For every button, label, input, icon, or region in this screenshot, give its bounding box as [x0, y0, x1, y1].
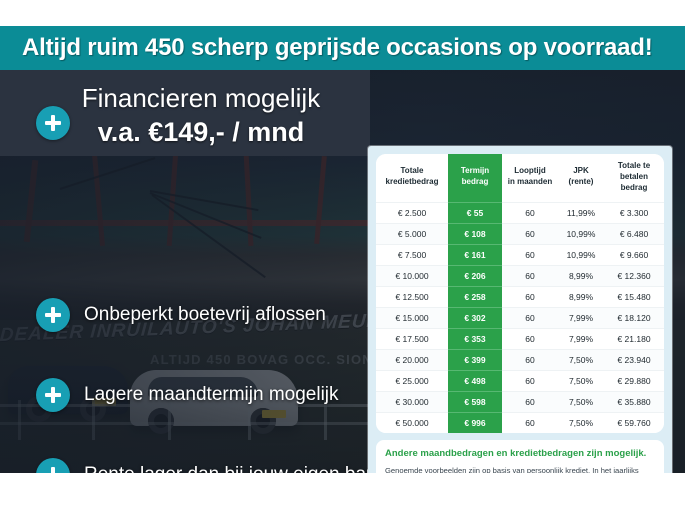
table-cell: € 18.120	[604, 308, 664, 329]
headline-line-2: v.a. €149,- / mnd	[36, 116, 366, 148]
table-cell: € 6.480	[604, 224, 664, 245]
table-cell: € 10.000	[376, 266, 448, 287]
table-cell: € 29.880	[604, 371, 664, 392]
table-row: € 15.000€ 302607,99%€ 18.120	[376, 308, 664, 329]
table-cell: € 23.940	[604, 350, 664, 371]
table-cell: € 5.000	[376, 224, 448, 245]
feature-label: Rente lager dan bij jouw eigen bank	[84, 464, 386, 473]
rate-table-body: € 2.500€ 556011,99%€ 3.300€ 5.000€ 10860…	[376, 203, 664, 434]
table-cell: 60	[502, 245, 558, 266]
table-cell: € 302	[448, 308, 502, 329]
plus-icon	[36, 458, 70, 473]
table-row: € 5.000€ 1086010,99%€ 6.480	[376, 224, 664, 245]
table-cell: 7,99%	[558, 329, 604, 350]
table-row: € 50.000€ 996607,50%€ 59.760	[376, 413, 664, 434]
disclaimer-body: Genoemde voorbeelden zijn op basis van p…	[385, 465, 655, 473]
table-cell: 11,99%	[558, 203, 604, 224]
table-cell: 10,99%	[558, 224, 604, 245]
table-row: € 25.000€ 498607,50%€ 29.880	[376, 371, 664, 392]
table-cell: € 598	[448, 392, 502, 413]
table-cell: 7,50%	[558, 413, 604, 434]
headline-line-1: Financieren mogelijk	[36, 84, 366, 114]
header-line-1: JPK	[573, 166, 589, 175]
header-line-2: (rente)	[569, 177, 594, 186]
header-line-2: in maanden	[508, 177, 552, 186]
rate-table-card: Totale kredietbedrag Termijn bedrag Loop…	[376, 154, 664, 433]
disclaimer-block: Andere maandbedragen en kredietbedragen …	[376, 440, 664, 473]
plus-icon	[36, 378, 70, 412]
table-cell: € 2.500	[376, 203, 448, 224]
table-row: € 10.000€ 206608,99%€ 12.360	[376, 266, 664, 287]
table-cell: 60	[502, 413, 558, 434]
table-cell: € 30.000	[376, 392, 448, 413]
table-row: € 2.500€ 556011,99%€ 3.300	[376, 203, 664, 224]
table-cell: € 206	[448, 266, 502, 287]
table-row: € 20.000€ 399607,50%€ 23.940	[376, 350, 664, 371]
column-header-totale-te-betalen: Totale te betalen bedrag	[604, 154, 664, 203]
table-cell: € 996	[448, 413, 502, 434]
table-cell: 60	[502, 371, 558, 392]
hero-headline: Financieren mogelijk v.a. €149,- / mnd	[36, 84, 366, 148]
table-cell: € 353	[448, 329, 502, 350]
column-header-termijn-bedrag: Termijn bedrag	[448, 154, 502, 203]
table-cell: € 399	[448, 350, 502, 371]
table-row: € 17.500€ 353607,99%€ 21.180	[376, 329, 664, 350]
table-cell: 10,99%	[558, 245, 604, 266]
header-line-1: Totale te	[618, 161, 650, 170]
table-header-row: Totale kredietbedrag Termijn bedrag Loop…	[376, 154, 664, 203]
hero-section: DEALER INRUILAUTO'S JOHAN MEURE ALTIJD 4…	[0, 70, 685, 473]
column-header-looptijd: Looptijd in maanden	[502, 154, 558, 203]
table-cell: € 12.360	[604, 266, 664, 287]
promo-banner: Altijd ruim 450 scherp geprijsde occasio…	[0, 26, 685, 70]
table-cell: € 25.000	[376, 371, 448, 392]
table-cell: 60	[502, 329, 558, 350]
table-cell: € 20.000	[376, 350, 448, 371]
feature-item-financieren	[36, 106, 70, 140]
plus-icon	[36, 298, 70, 332]
table-cell: 8,99%	[558, 287, 604, 308]
feature-label: Onbeperkt boetevrij aflossen	[84, 304, 326, 326]
table-cell: 60	[502, 350, 558, 371]
table-cell: € 59.760	[604, 413, 664, 434]
table-cell: € 161	[448, 245, 502, 266]
table-cell: € 17.500	[376, 329, 448, 350]
table-cell: € 15.000	[376, 308, 448, 329]
table-cell: € 108	[448, 224, 502, 245]
table-cell: € 50.000	[376, 413, 448, 434]
header-line-1: Totale	[401, 166, 424, 175]
table-cell: 60	[502, 392, 558, 413]
table-row: € 30.000€ 598607,50%€ 35.880	[376, 392, 664, 413]
column-header-totale-kredietbedrag: Totale kredietbedrag	[376, 154, 448, 203]
rate-table: Totale kredietbedrag Termijn bedrag Loop…	[376, 154, 664, 433]
table-cell: 7,99%	[558, 308, 604, 329]
rate-panel: Totale kredietbedrag Termijn bedrag Loop…	[368, 146, 672, 473]
banner-title: Altijd ruim 450 scherp geprijsde occasio…	[22, 34, 653, 62]
table-cell: 60	[502, 224, 558, 245]
header-line-1: Termijn	[461, 166, 489, 175]
table-cell: € 21.180	[604, 329, 664, 350]
table-row: € 7.500€ 1616010,99%€ 9.660	[376, 245, 664, 266]
table-cell: 60	[502, 287, 558, 308]
table-cell: € 9.660	[604, 245, 664, 266]
column-header-jpk: JPK (rente)	[558, 154, 604, 203]
table-cell: € 7.500	[376, 245, 448, 266]
feature-item-rente-lager: Rente lager dan bij jouw eigen bank	[36, 458, 372, 473]
bottom-gutter	[0, 473, 685, 513]
table-cell: € 15.480	[604, 287, 664, 308]
feature-list: Financieren mogelijk v.a. €149,- / mnd O…	[0, 70, 372, 473]
header-line-2: kredietbedrag	[386, 177, 439, 186]
header-line-2: bedrag	[462, 177, 489, 186]
plus-icon	[36, 106, 70, 140]
table-cell: € 12.500	[376, 287, 448, 308]
table-cell: 60	[502, 308, 558, 329]
table-cell: € 35.880	[604, 392, 664, 413]
feature-item-lagere-maandtermijn: Lagere maandtermijn mogelijk	[36, 378, 372, 412]
header-line-1: Looptijd	[514, 166, 546, 175]
table-cell: 7,50%	[558, 350, 604, 371]
table-cell: € 55	[448, 203, 502, 224]
feature-item-boetevrij-aflossen: Onbeperkt boetevrij aflossen	[36, 298, 372, 332]
header-line-2: betalen bedrag	[620, 172, 648, 192]
table-cell: 8,99%	[558, 266, 604, 287]
table-row: € 12.500€ 258608,99%€ 15.480	[376, 287, 664, 308]
table-cell: € 498	[448, 371, 502, 392]
table-cell: 60	[502, 266, 558, 287]
table-cell: 7,50%	[558, 371, 604, 392]
table-cell: € 3.300	[604, 203, 664, 224]
feature-label: Lagere maandtermijn mogelijk	[84, 384, 339, 406]
table-cell: € 258	[448, 287, 502, 308]
table-cell: 7,50%	[558, 392, 604, 413]
advertisement-root: Altijd ruim 450 scherp geprijsde occasio…	[0, 0, 685, 513]
disclaimer-title: Andere maandbedragen en kredietbedragen …	[385, 448, 655, 459]
table-cell: 60	[502, 203, 558, 224]
